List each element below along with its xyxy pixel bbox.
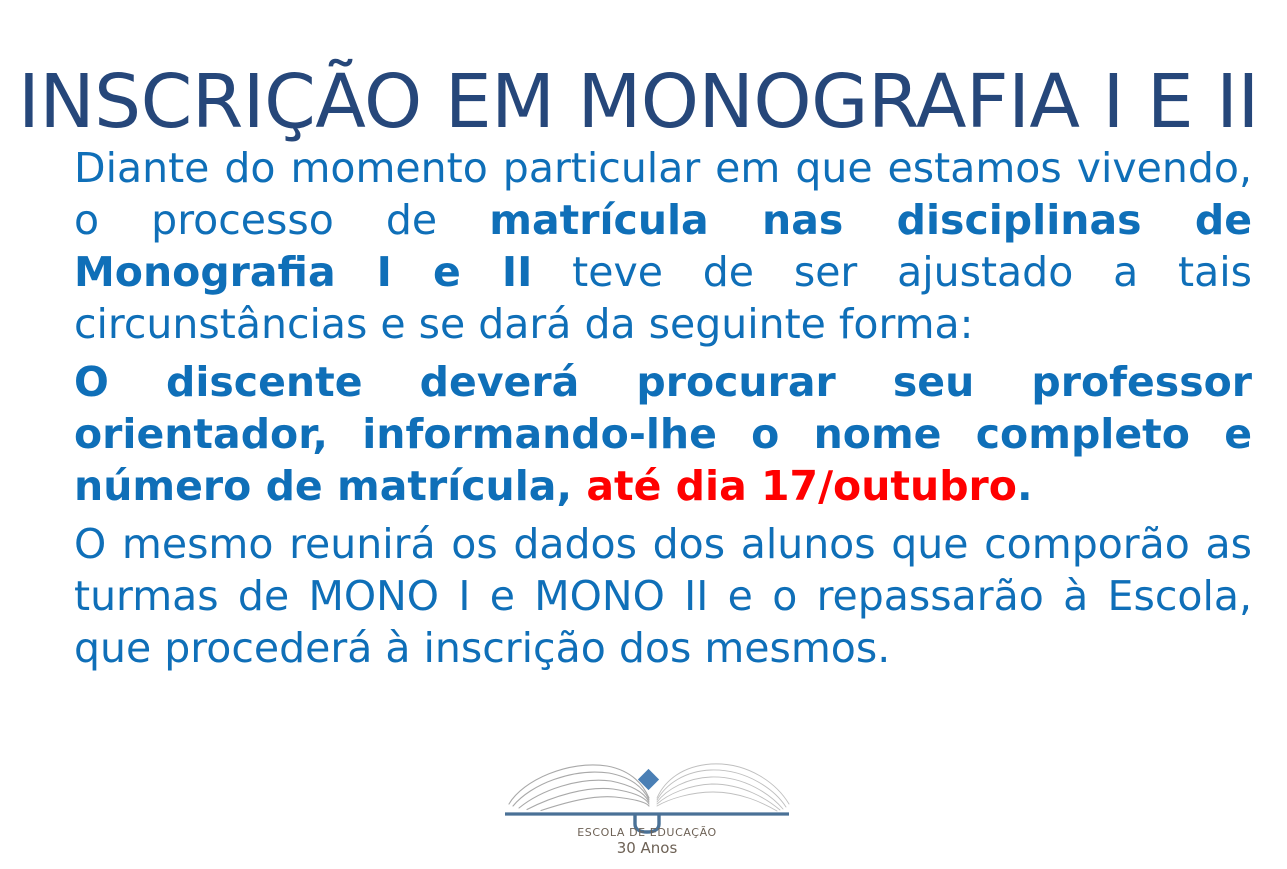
diamond-icon <box>638 769 659 790</box>
logo-line-anniversary: 30 Anos <box>497 840 797 857</box>
logo-wordmark: ESCOLA DE EDUCAÇÃO 30 Anos <box>497 826 797 857</box>
slide-canvas: INSCRIÇÃO EM MONOGRAFIA I E II Diante do… <box>0 0 1287 869</box>
escola-de-educacao-logo: ESCOLA DE EDUCAÇÃO 30 Anos <box>497 752 797 864</box>
slide-body: Diante do momento particular em que esta… <box>74 142 1252 674</box>
paragraph-followup: O mesmo reunirá os dados dos alunos que … <box>74 518 1252 674</box>
page-title: INSCRIÇÃO EM MONOGRAFIA I E II <box>18 56 1273 148</box>
paragraph-intro: Diante do momento particular em que esta… <box>74 142 1252 350</box>
logo-line-institution: ESCOLA DE EDUCAÇÃO <box>497 826 797 839</box>
paragraph-followup-text: O mesmo reunirá os dados dos alunos que … <box>74 520 1252 672</box>
paragraph-instruction: O discente deverá procurar seu professor… <box>74 356 1252 512</box>
paragraph-instruction-period: . <box>1017 462 1033 510</box>
deadline-highlight: até dia 17/outubro <box>586 462 1017 510</box>
